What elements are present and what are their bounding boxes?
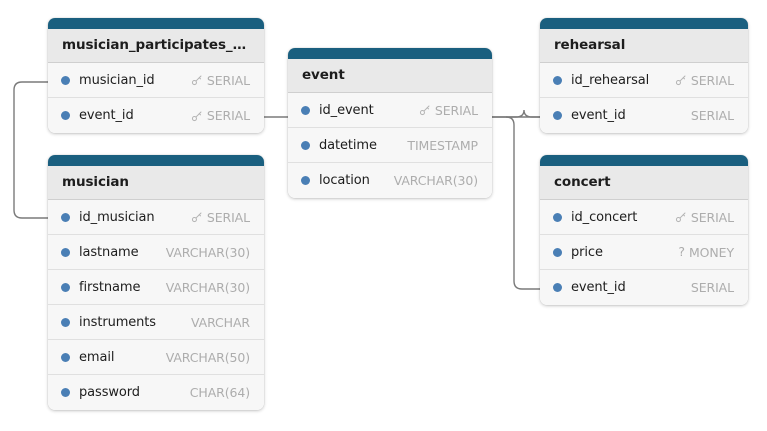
field-name: event_id	[571, 108, 626, 123]
field-type: SERIAL	[691, 73, 734, 88]
field-row-location[interactable]: locationVARCHAR(30)	[288, 163, 492, 198]
table-title: musician	[48, 166, 264, 200]
field-name: id_rehearsal	[571, 73, 649, 88]
table-card-concert[interactable]: concertid_concertSERIALprice?MONEYevent_…	[540, 155, 748, 305]
field-meta: SERIAL	[181, 210, 250, 225]
field-type: VARCHAR(30)	[166, 280, 250, 295]
field-meta: SERIAL	[665, 73, 734, 88]
field-type: VARCHAR(30)	[166, 245, 250, 260]
field-type: MONEY	[689, 245, 734, 260]
field-bullet-icon	[61, 388, 70, 397]
primary-key-icon	[675, 211, 687, 223]
connector-event-concert	[506, 117, 540, 289]
field-name: musician_id	[79, 73, 155, 88]
table-title: musician_participates_e…	[48, 29, 264, 63]
field-bullet-icon	[301, 141, 310, 150]
field-row-event_id[interactable]: event_idSERIAL	[540, 98, 748, 133]
field-bullet-icon	[61, 283, 70, 292]
table-card-event[interactable]: eventid_eventSERIALdatetimeTIMESTAMPloca…	[288, 48, 492, 198]
field-name: lastname	[79, 245, 139, 260]
field-type: VARCHAR	[191, 315, 250, 330]
table-card-rehearsal[interactable]: rehearsalid_rehearsalSERIALevent_idSERIA…	[540, 18, 748, 133]
field-type: SERIAL	[691, 108, 734, 123]
table-title: rehearsal	[540, 29, 748, 63]
field-name: id_concert	[571, 210, 637, 225]
nullable-marker-icon: ?	[678, 246, 685, 259]
table-header-bar	[48, 155, 264, 166]
field-name: datetime	[319, 138, 377, 153]
field-type: SERIAL	[691, 280, 734, 295]
field-name: instruments	[79, 315, 156, 330]
primary-key-icon	[191, 110, 203, 122]
field-bullet-icon	[61, 213, 70, 222]
field-bullet-icon	[61, 353, 70, 362]
field-type: SERIAL	[207, 73, 250, 88]
field-name: location	[319, 173, 370, 188]
field-type: SERIAL	[207, 108, 250, 123]
field-row-id_event[interactable]: id_eventSERIAL	[288, 93, 492, 128]
table-card-musician_participates_event[interactable]: musician_participates_e…musician_idSERIA…	[48, 18, 264, 133]
field-bullet-icon	[301, 106, 310, 115]
table-card-musician[interactable]: musicianid_musicianSERIALlastnameVARCHAR…	[48, 155, 264, 410]
field-meta: TIMESTAMP	[397, 138, 478, 153]
field-name: event_id	[79, 108, 134, 123]
field-row-musician_id[interactable]: musician_idSERIAL	[48, 63, 264, 98]
field-row-lastname[interactable]: lastnameVARCHAR(30)	[48, 235, 264, 270]
primary-key-icon	[419, 104, 431, 116]
field-bullet-icon	[61, 318, 70, 327]
field-name: firstname	[79, 280, 140, 295]
field-meta: ?MONEY	[668, 245, 734, 260]
field-row-price[interactable]: price?MONEY	[540, 235, 748, 270]
table-header-bar	[288, 48, 492, 59]
field-bullet-icon	[553, 213, 562, 222]
field-bullet-icon	[553, 248, 562, 257]
field-meta: CHAR(64)	[180, 385, 250, 400]
field-type: SERIAL	[691, 210, 734, 225]
field-name: id_event	[319, 103, 374, 118]
field-row-instruments[interactable]: instrumentsVARCHAR	[48, 305, 264, 340]
field-name: password	[79, 385, 140, 400]
field-type: SERIAL	[207, 210, 250, 225]
field-bullet-icon	[553, 76, 562, 85]
field-row-password[interactable]: passwordCHAR(64)	[48, 375, 264, 410]
field-meta: VARCHAR(30)	[384, 173, 478, 188]
field-meta: SERIAL	[181, 108, 250, 123]
field-type: SERIAL	[435, 103, 478, 118]
field-row-id_rehearsal[interactable]: id_rehearsalSERIAL	[540, 63, 748, 98]
connector-event-rehearsal	[492, 110, 540, 117]
field-row-id_concert[interactable]: id_concertSERIAL	[540, 200, 748, 235]
table-title: concert	[540, 166, 748, 200]
field-row-datetime[interactable]: datetimeTIMESTAMP	[288, 128, 492, 163]
field-row-email[interactable]: emailVARCHAR(50)	[48, 340, 264, 375]
table-header-bar	[540, 18, 748, 29]
field-meta: VARCHAR(30)	[156, 280, 250, 295]
table-header-bar	[540, 155, 748, 166]
primary-key-icon	[191, 211, 203, 223]
field-type: TIMESTAMP	[407, 138, 478, 153]
primary-key-icon	[675, 74, 687, 86]
field-meta: SERIAL	[181, 73, 250, 88]
field-meta: SERIAL	[681, 108, 734, 123]
field-meta: VARCHAR	[181, 315, 250, 330]
field-name: price	[571, 245, 603, 260]
field-bullet-icon	[301, 176, 310, 185]
field-row-id_musician[interactable]: id_musicianSERIAL	[48, 200, 264, 235]
field-meta: SERIAL	[409, 103, 478, 118]
field-row-firstname[interactable]: firstnameVARCHAR(30)	[48, 270, 264, 305]
field-name: event_id	[571, 280, 626, 295]
field-meta: SERIAL	[681, 280, 734, 295]
field-name: email	[79, 350, 114, 365]
field-bullet-icon	[553, 283, 562, 292]
field-meta: VARCHAR(30)	[156, 245, 250, 260]
field-bullet-icon	[61, 248, 70, 257]
field-bullet-icon	[61, 76, 70, 85]
table-title: event	[288, 59, 492, 93]
field-bullet-icon	[553, 111, 562, 120]
field-type: VARCHAR(50)	[166, 350, 250, 365]
connector-participates-musician	[14, 82, 48, 218]
field-name: id_musician	[79, 210, 155, 225]
table-header-bar	[48, 18, 264, 29]
field-type: CHAR(64)	[190, 385, 250, 400]
primary-key-icon	[191, 74, 203, 86]
field-meta: SERIAL	[665, 210, 734, 225]
field-row-event_id[interactable]: event_idSERIAL	[48, 98, 264, 133]
er-diagram-canvas: musician_participates_e…musician_idSERIA…	[0, 0, 767, 431]
field-meta: VARCHAR(50)	[156, 350, 250, 365]
field-row-event_id[interactable]: event_idSERIAL	[540, 270, 748, 305]
field-bullet-icon	[61, 111, 70, 120]
field-type: VARCHAR(30)	[394, 173, 478, 188]
